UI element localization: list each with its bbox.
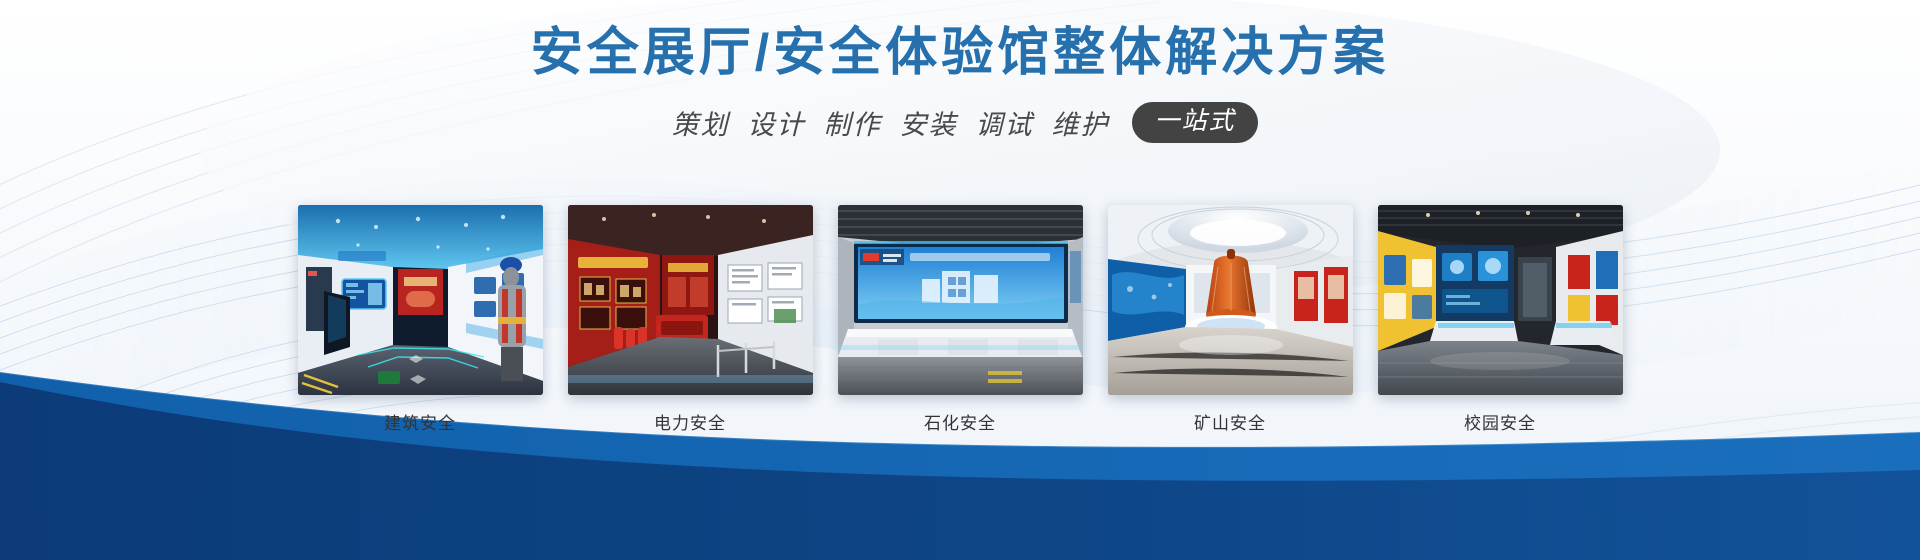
gallery-thumbnail-construction[interactable] [298, 205, 543, 395]
gallery-caption: 电力安全 [654, 409, 726, 434]
gallery-caption: 校园安全 [1464, 409, 1536, 434]
gallery-thumbnail-power[interactable] [568, 205, 813, 395]
gallery-item[interactable]: 石化安全 [838, 205, 1083, 434]
gallery-thumbnail-petrochemical[interactable] [838, 205, 1083, 395]
service-step: 调试 [966, 103, 1042, 142]
page-title: 安全展厅/安全体验馆整体解决方案 [531, 24, 1389, 82]
one-stop-badge: 一站式 [1132, 102, 1257, 143]
gallery-item[interactable]: 电力安全 [568, 205, 813, 434]
service-step: 维护 [1042, 103, 1118, 142]
gallery-caption: 矿山安全 [1194, 409, 1266, 434]
service-step: 设计 [738, 103, 814, 142]
gallery-caption: 建筑安全 [384, 409, 456, 434]
promo-banner: 安全展厅/安全体验馆整体解决方案 策划 设计 制作 安装 调试 维护 一站式 [0, 0, 1920, 560]
gallery-item[interactable]: 矿山安全 [1108, 205, 1353, 434]
headline-block: 安全展厅/安全体验馆整体解决方案 策划 设计 制作 安装 调试 维护 一站式 [0, 0, 1920, 143]
gallery-thumbnail-mining[interactable] [1108, 205, 1353, 395]
gallery-item[interactable]: 校园安全 [1378, 205, 1623, 434]
service-step: 安装 [890, 103, 966, 142]
service-steps: 策划 设计 制作 安装 调试 维护 一站式 [662, 102, 1257, 143]
gallery-thumbnail-campus[interactable] [1378, 205, 1623, 395]
gallery: 建筑安全 [0, 205, 1920, 434]
gallery-item[interactable]: 建筑安全 [298, 205, 543, 434]
service-step: 策划 [662, 103, 738, 142]
service-step: 制作 [814, 103, 890, 142]
gallery-caption: 石化安全 [924, 409, 996, 434]
